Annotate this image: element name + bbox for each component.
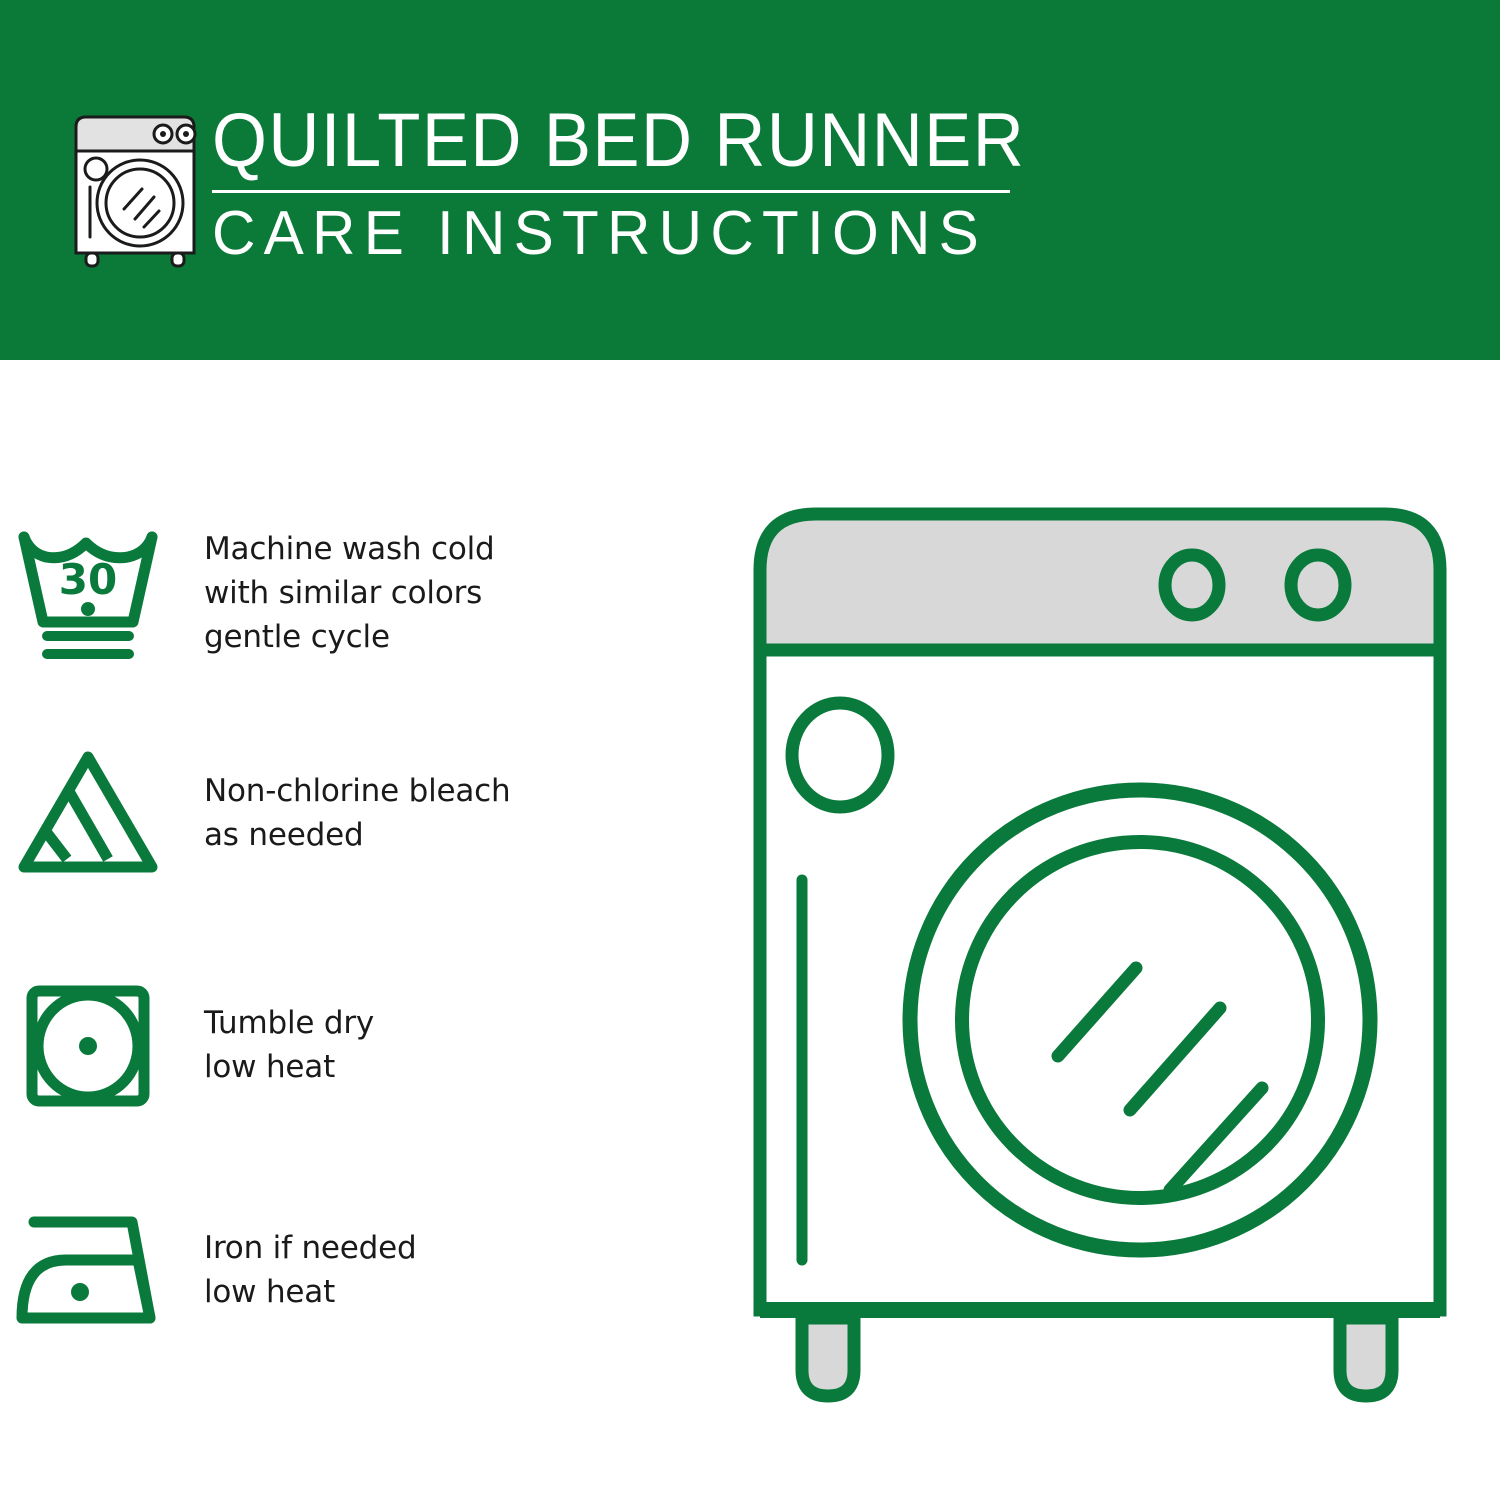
header-divider: [212, 190, 1010, 193]
page-title: QUILTED BED RUNNER: [212, 100, 962, 182]
care-row-iron: Iron if needed low heat: [0, 1185, 700, 1355]
care-label-iron: Iron if needed low heat: [180, 1226, 416, 1314]
iron-low-heat-icon: [0, 1185, 180, 1355]
large-washing-machine-illustration: [740, 490, 1460, 1420]
machine-wash-30-icon: 30: [0, 508, 180, 678]
header-text-block: QUILTED BED RUNNER CARE INSTRUCTIONS: [212, 100, 1018, 269]
page-subtitle: CARE INSTRUCTIONS: [212, 199, 994, 269]
non-chlorine-bleach-icon: [0, 728, 180, 898]
care-row-bleach: Non-chlorine bleach as needed: [0, 728, 700, 898]
care-label-bleach: Non-chlorine bleach as needed: [180, 769, 510, 857]
header-band: QUILTED BED RUNNER CARE INSTRUCTIONS: [0, 0, 1500, 360]
washing-machine-icon: [62, 103, 212, 268]
tumble-dry-low-icon: [0, 960, 180, 1130]
wash-temperature-value: 30: [59, 555, 117, 604]
care-label-machine-wash: Machine wash cold with similar colors ge…: [180, 527, 495, 659]
care-row-machine-wash: 30 Machine wash cold with similar colors…: [0, 508, 700, 678]
care-label-tumble-dry: Tumble dry low heat: [180, 1001, 374, 1089]
care-instructions-list: 30 Machine wash cold with similar colors…: [0, 360, 700, 1500]
care-row-tumble-dry: Tumble dry low heat: [0, 960, 700, 1130]
